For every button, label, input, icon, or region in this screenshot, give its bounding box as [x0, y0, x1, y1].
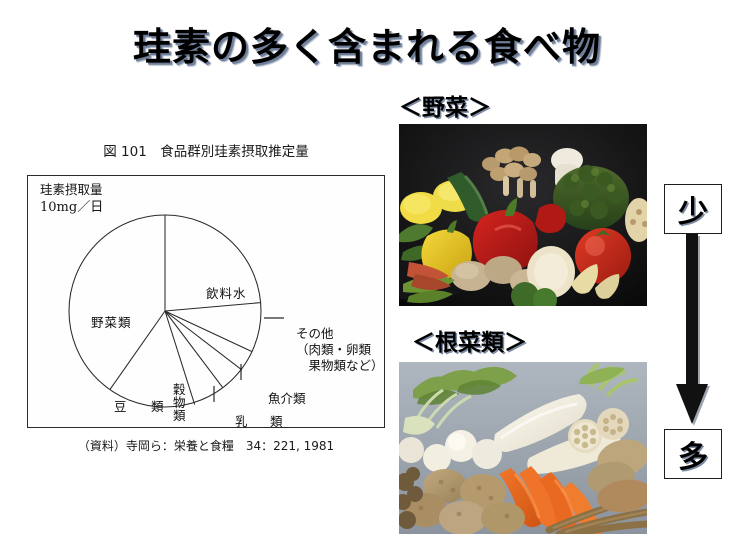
slide-canvas: 珪素の多く含まれる食べ物 図 101 食品群別珪素摂取推定量 珪素摂取量 10m…	[0, 0, 734, 550]
pie-slice-label-vegetables: 野菜類	[91, 315, 132, 331]
pie-callout-label-other-line3: 果物類など）	[296, 358, 384, 374]
root-vegetable-photo	[399, 362, 647, 534]
pie-slice-label-drinking-water: 飲料水	[206, 286, 247, 302]
chart-source-citation: （資料）寺岡ら：栄養と食糧 34：221, 1981	[24, 437, 388, 454]
chart-title: 図 101 食品群別珪素摂取推定量	[24, 140, 388, 160]
pie-slice-label-grains: 穀物類	[173, 383, 188, 422]
root-vegetable-photo-heading: ＜根菜類＞	[412, 323, 527, 357]
scale-label-low-box: 少	[664, 184, 722, 234]
pie-radius-95deg	[165, 303, 261, 311]
pie-slice-label-beans: 豆 類	[114, 399, 170, 415]
scale-arrow	[664, 234, 722, 429]
pie-callout-label-other-line2: （肉類・卵類	[296, 342, 384, 358]
vegetable-photo-graphic	[399, 124, 647, 306]
page-title: 珪素の多く含まれる食べ物	[0, 16, 734, 71]
root-vegetable-photo-graphic	[399, 362, 647, 534]
pie-callout-label-dairy: 乳 類	[235, 414, 288, 430]
silicon-intake-chart-panel: 図 101 食品群別珪素摂取推定量 珪素摂取量 10mg／日	[24, 140, 388, 480]
scale-label-high-box: 多	[664, 429, 722, 479]
pie-callout-label-other: その他 （肉類・卵類 果物類など）	[296, 326, 384, 374]
chart-plot-area: 珪素摂取量 10mg／日	[27, 175, 385, 428]
vegetable-photo-heading: ＜野菜＞	[399, 88, 491, 122]
pie-radius-115deg	[165, 311, 252, 352]
pie-callout-label-seafood: 魚介類	[268, 391, 306, 407]
down-arrow-icon	[664, 234, 722, 429]
vegetable-photo	[399, 124, 647, 306]
pie-callout-label-other-line1: その他	[296, 326, 384, 342]
